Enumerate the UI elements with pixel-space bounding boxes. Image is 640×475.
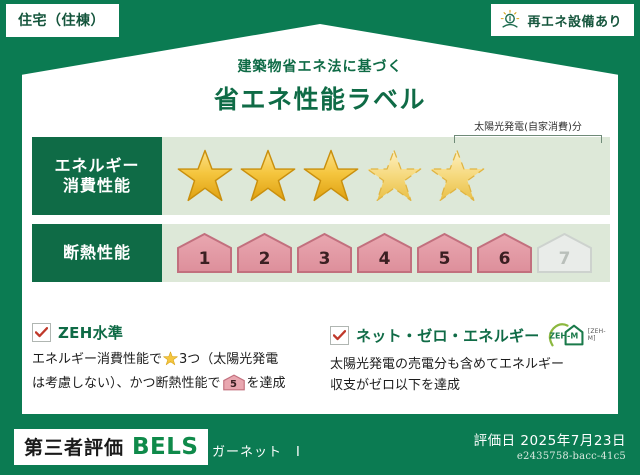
performance-rows: エネルギー 消費性能 (32, 137, 610, 291)
insulation-row-label: 断熱性能 (32, 224, 162, 282)
insulation-grade-7: 7 (536, 232, 593, 274)
sun-icon (499, 9, 521, 31)
grade-number: 2 (259, 249, 271, 274)
evaluator-name: ガーネット Ⅰ (212, 441, 301, 460)
criteria-columns: ZEH水準 エネルギー消費性能で3つ（太陽光発電 は考慮しない）、かつ断熱性能で… (32, 322, 612, 397)
zeh-desc-star-text: 3つ（太陽光発電 (179, 352, 278, 367)
insulation-grade-6: 6 (476, 232, 533, 274)
check-icon (330, 326, 349, 345)
solar-annotation-label: 太陽光発電(自家消費)分 (454, 123, 602, 133)
evaluation-date: 評価日 2025年7月23日 (474, 429, 626, 449)
star-solar-4 (365, 147, 423, 205)
bels-en-label: BELS (132, 434, 198, 460)
grade-number: 1 (199, 249, 211, 274)
net-zero-desc-line2: 収支がゼロ以下を達成 (330, 378, 460, 393)
grade-number: 6 (499, 249, 511, 274)
insulation-grade-5: 5 (416, 232, 473, 274)
zeh-desc-part1: エネルギー消費性能で (32, 352, 162, 367)
zeh-title: ZEH水準 (58, 322, 123, 343)
insulation-grade-scale: 1 2 3 (162, 232, 593, 274)
bels-certification-box: 第三者評価 BELS (14, 429, 208, 465)
heading-subtitle: 建築物省エネ法に基づく (0, 56, 640, 76)
net-zero-heading: ネット・ゼロ・エネルギー ZEH-M [ZEH-M] (330, 322, 612, 348)
zeh-description: エネルギー消費性能で3つ（太陽光発電 は考慮しない）、かつ断熱性能で5を達成 (32, 350, 314, 395)
insulation-performance-row: 断熱性能 1 (32, 224, 610, 282)
evaluation-id: e2435758-bacc-41c5 (474, 451, 626, 462)
zeh-desc-part2: は考慮しない）、かつ断熱性能で (32, 376, 221, 391)
star-rating (162, 147, 486, 205)
net-zero-desc-line1: 太陽光発電の売電分も含めてエネルギー (330, 357, 564, 372)
insulation-label-text: 断熱性能 (63, 243, 131, 263)
grade-number: 5 (439, 249, 451, 274)
solar-bracket (454, 135, 602, 143)
net-zero-title: ネット・ゼロ・エネルギー (356, 325, 540, 346)
grade-number: 4 (379, 249, 391, 274)
grade-number: 7 (559, 249, 571, 274)
zeh-m-logo-caption: [ZEH-M] (588, 328, 612, 342)
zeh-heading: ZEH水準 (32, 322, 314, 343)
insulation-grade-3: 3 (296, 232, 353, 274)
star-solar-5 (428, 147, 486, 205)
inline-star-icon (163, 351, 178, 374)
star-filled-1 (176, 147, 234, 205)
insulation-grade-2: 2 (236, 232, 293, 274)
star-filled-3 (302, 147, 360, 205)
heading-title: 省エネ性能ラベル (0, 80, 640, 116)
energy-performance-row: エネルギー 消費性能 (32, 137, 610, 215)
check-icon (32, 323, 51, 342)
inline-house-icon: 5 (223, 374, 245, 391)
star-filled-2 (239, 147, 297, 205)
net-zero-criterion: ネット・ゼロ・エネルギー ZEH-M [ZEH-M] 太陽光発電の売電分も含めて… (330, 322, 612, 397)
insulation-row-body: 1 2 3 (162, 224, 610, 282)
bels-jp-label: 第三者評価 (24, 433, 124, 460)
evaluation-meta: 評価日 2025年7月23日 e2435758-bacc-41c5 (474, 429, 626, 462)
net-zero-description: 太陽光発電の売電分も含めてエネルギー 収支がゼロ以下を達成 (330, 355, 612, 397)
zeh-desc-part3: を達成 (247, 376, 286, 391)
grade-number: 3 (319, 249, 331, 274)
inline-house-number: 5 (223, 377, 245, 393)
renewable-badge-label: 再エネ設備あり (527, 11, 622, 30)
label-footer: 第三者評価 BELS ガーネット Ⅰ 評価日 2025年7月23日 e24357… (0, 419, 640, 475)
insulation-grade-1: 1 (176, 232, 233, 274)
insulation-grade-4: 4 (356, 232, 413, 274)
energy-label-line2: 消費性能 (63, 176, 131, 196)
renewable-equipment-badge: 再エネ設備あり (491, 4, 634, 36)
zeh-m-logo-icon: ZEH-M [ZEH-M] (545, 322, 612, 348)
energy-performance-label: 住宅（住棟） 再エネ設備あり 建築物省エネ法に基づく 省エネ性能ラベル (0, 0, 640, 475)
building-type-tag: 住宅（住棟） (6, 4, 119, 37)
energy-label-line1: エネルギー (54, 156, 139, 176)
label-heading: 建築物省エネ法に基づく 省エネ性能ラベル (0, 56, 640, 116)
solar-annotation: 太陽光発電(自家消費)分 (454, 123, 602, 143)
energy-row-label: エネルギー 消費性能 (32, 137, 162, 215)
zeh-criterion: ZEH水準 エネルギー消費性能で3つ（太陽光発電 は考慮しない）、かつ断熱性能で… (32, 322, 314, 397)
svg-text:ZEH-M: ZEH-M (549, 332, 578, 341)
energy-row-body: 太陽光発電(自家消費)分 (162, 137, 610, 215)
